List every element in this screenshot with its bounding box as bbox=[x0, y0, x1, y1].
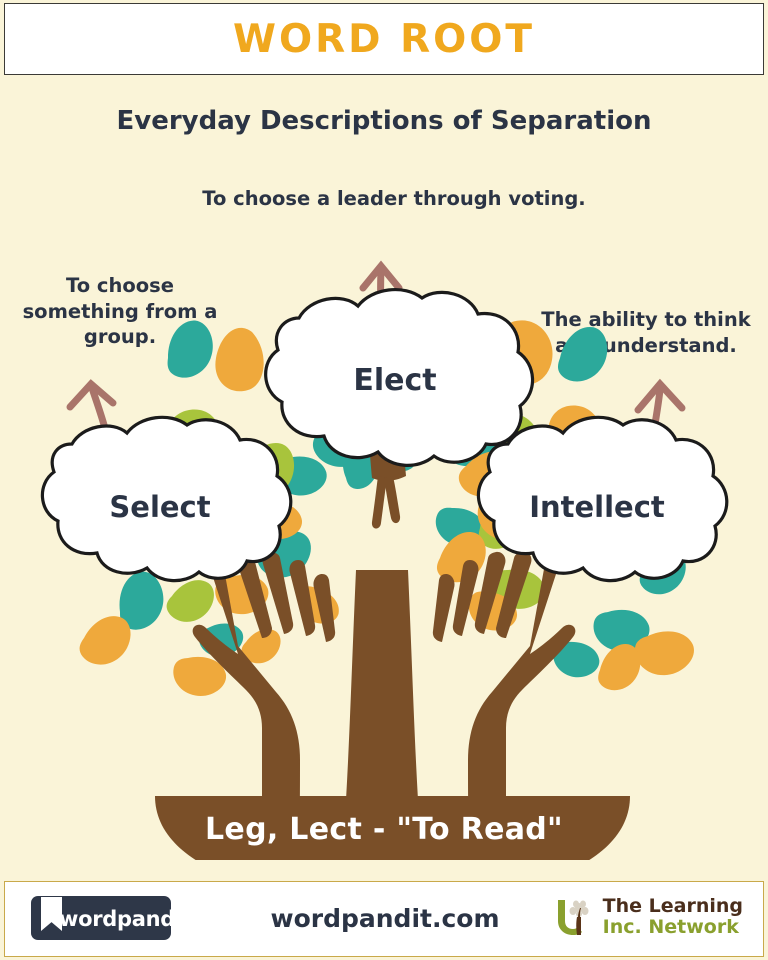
arrow-up-center bbox=[363, 266, 399, 332]
partner-name-line1: The Learning bbox=[603, 896, 743, 917]
arrow-up-left bbox=[70, 384, 113, 454]
ground-base bbox=[0, 860, 768, 880]
tree-illustration bbox=[0, 240, 768, 880]
arrow-up-right bbox=[638, 384, 682, 458]
partner-name-line2: Inc. Network bbox=[603, 917, 743, 938]
page-title: WORD ROOT bbox=[233, 17, 535, 62]
infographic-page: WORD ROOT Everyday Descriptions of Separ… bbox=[0, 0, 768, 960]
subtitle: Everyday Descriptions of Separation bbox=[0, 106, 768, 136]
footer-bar: wordpandit wordpandit.com The Learning bbox=[4, 881, 764, 957]
tree-u-icon bbox=[550, 894, 596, 940]
description-top: To choose a leader through voting. bbox=[188, 186, 600, 212]
the-learning-inc-network-logo[interactable]: The Learning Inc. Network bbox=[550, 894, 743, 940]
header-bar: WORD ROOT bbox=[4, 3, 764, 75]
